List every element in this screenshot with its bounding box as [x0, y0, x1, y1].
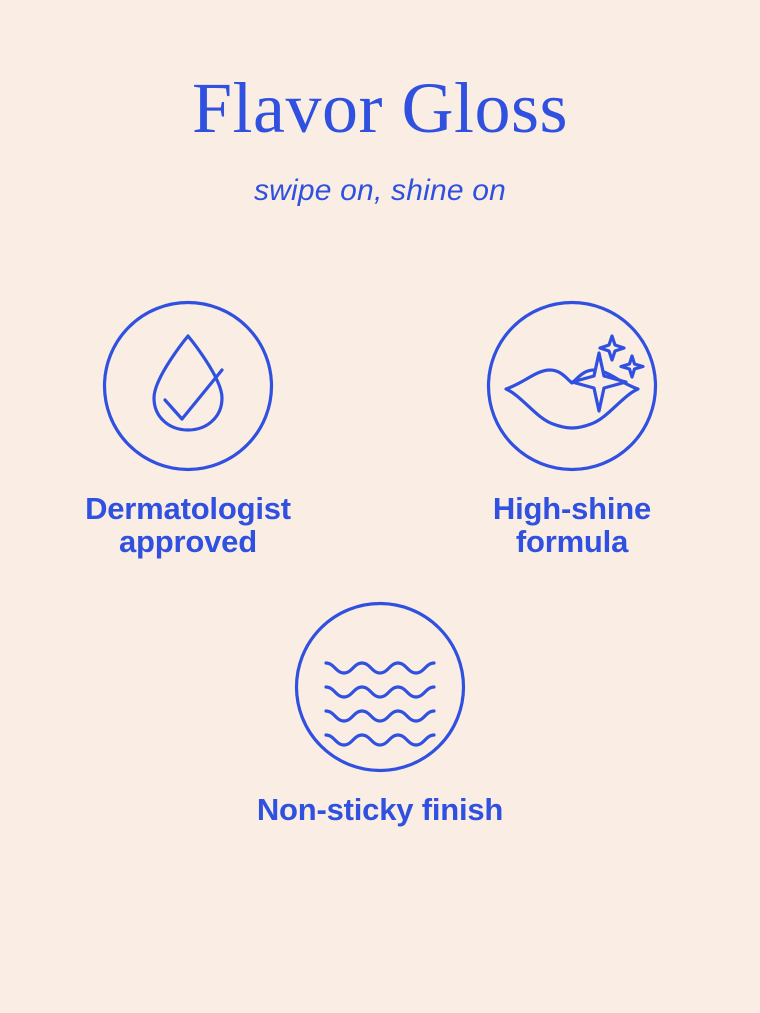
feature-row-top: Dermatologist approved High-shine formul…: [0, 300, 760, 559]
feature-label: High-shine formula: [493, 492, 651, 559]
waves-icon: [294, 601, 466, 773]
droplet-check-icon: [102, 300, 274, 472]
feature-row-bottom: Non-sticky finish: [0, 601, 760, 826]
feature-high-shine-formula: High-shine formula: [432, 300, 712, 559]
feature-grid: Dermatologist approved High-shine formul…: [0, 300, 760, 826]
sparkling-lips-icon: [486, 300, 658, 472]
feature-non-sticky-finish: Non-sticky finish: [240, 601, 520, 826]
poster-header: Flavor Gloss swipe on, shine on: [0, 0, 760, 206]
page-subtitle: swipe on, shine on: [0, 144, 760, 206]
feature-label: Dermatologist approved: [85, 492, 291, 559]
page-title: Flavor Gloss: [0, 0, 760, 144]
product-feature-poster: Flavor Gloss swipe on, shine on Dermatol…: [0, 0, 760, 1013]
feature-label: Non-sticky finish: [257, 793, 503, 826]
feature-dermatologist-approved: Dermatologist approved: [48, 300, 328, 559]
